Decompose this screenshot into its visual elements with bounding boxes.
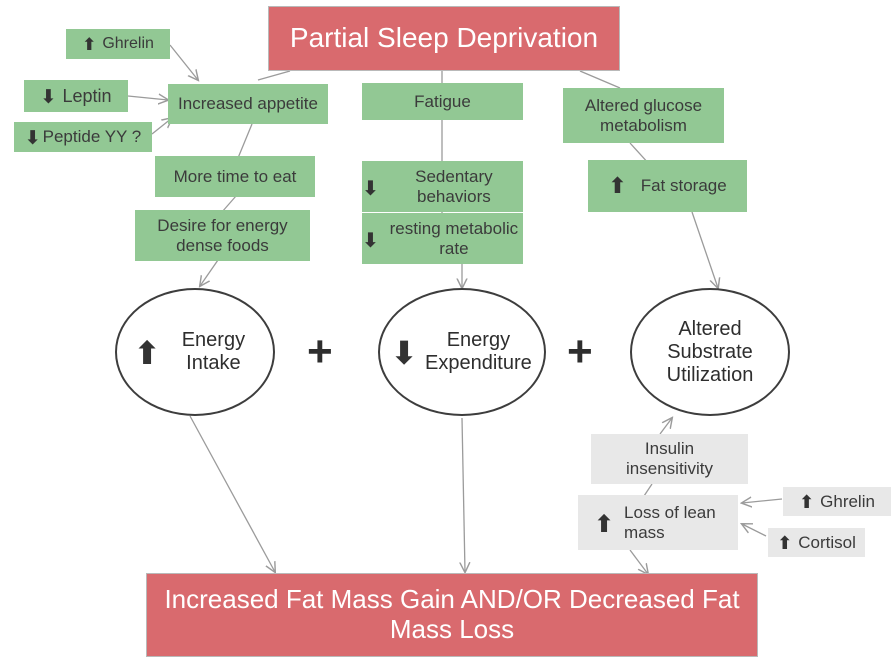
node-insulin-insensitivity[interactable]: Insulin insensitivity: [591, 434, 748, 484]
node-increased-appetite[interactable]: Increased appetite: [168, 84, 328, 124]
edge-ghrelin-to-leanmass: [742, 499, 782, 503]
arrow-up-icon: ⬆: [777, 535, 792, 553]
node-altered-substrate-utilization-label: Altered Substrate Utilization: [650, 318, 770, 387]
node-energy-intake-label: Energy Intake: [170, 329, 256, 375]
node-energy-expenditure[interactable]: ⬇ Energy Expenditure: [378, 288, 546, 416]
arrow-up-icon: ⬆: [594, 512, 614, 536]
edge-fatstorage-to-substrate: [692, 212, 718, 288]
header-partial-sleep-deprivation[interactable]: Partial Sleep Deprivation: [268, 6, 620, 71]
edge-insulin-to-substrate: [660, 418, 672, 434]
node-insulin-insensitivity-label: Insulin insensitivity: [615, 439, 725, 478]
node-peptide-yy[interactable]: ⬇ Peptide YY ?: [14, 122, 152, 152]
arrow-up-icon: ⬆: [134, 337, 161, 369]
node-fat-storage[interactable]: ⬆ Fat storage: [588, 160, 747, 212]
node-resting-metabolic-rate-label: resting metabolic rate: [385, 219, 523, 258]
node-energy-intake[interactable]: ⬆ Energy Intake: [115, 288, 275, 416]
node-loss-of-lean-mass[interactable]: ⬆ Loss of lean mass: [578, 495, 738, 550]
node-leptin-label: Leptin: [62, 86, 111, 107]
node-desire-energy-dense-foods-label: Desire for energy dense foods: [135, 216, 310, 255]
arrow-down-icon: ⬇: [25, 129, 41, 148]
node-energy-expenditure-label: Energy Expenditure: [423, 329, 533, 375]
arrow-up-icon: ⬆: [82, 37, 96, 54]
node-ghrelin-top-label: Ghrelin: [102, 35, 154, 53]
node-fatigue[interactable]: Fatigue: [362, 83, 523, 120]
node-resting-metabolic-rate[interactable]: ⬇ resting metabolic rate: [362, 213, 523, 264]
footer-outcome-banner[interactable]: Increased Fat Mass Gain AND/OR Decreased…: [146, 573, 758, 657]
node-peptide-yy-label: Peptide YY ?: [43, 127, 142, 147]
node-altered-glucose-metabolism[interactable]: Altered glucose metabolism: [563, 88, 724, 143]
node-cortisol-label: Cortisol: [798, 533, 856, 553]
node-fatigue-label: Fatigue: [414, 92, 471, 112]
footer-label: Increased Fat Mass Gain AND/OR Decreased…: [161, 585, 743, 645]
node-fat-storage-label: Fat storage: [641, 176, 727, 196]
node-more-time-to-eat[interactable]: More time to eat: [155, 156, 315, 197]
node-ghrelin-bottom-label: Ghrelin: [820, 492, 875, 512]
operator-plus-2: +: [567, 330, 593, 374]
node-sedentary-behaviors-label: Sedentary behaviors: [385, 167, 523, 206]
node-cortisol[interactable]: ⬆ Cortisol: [768, 528, 865, 557]
arrow-up-icon: ⬆: [608, 176, 626, 198]
node-altered-substrate-utilization[interactable]: Altered Substrate Utilization: [630, 288, 790, 416]
node-altered-glucose-metabolism-label: Altered glucose metabolism: [563, 96, 724, 135]
edge-cortisol-to-leanmass: [742, 524, 766, 536]
edge-intake-to-footer: [190, 416, 275, 572]
edge-header-to-appetite: [258, 71, 290, 80]
operator-plus-1: +: [307, 330, 333, 374]
edge-leanmass-to-footer: [630, 550, 648, 574]
edge-desire-to-intake: [200, 260, 218, 286]
edge-expenditure-to-footer: [462, 418, 465, 572]
arrow-down-icon: ⬇: [362, 178, 379, 198]
edge-appetite-to-moretime: [238, 124, 252, 158]
node-sedentary-behaviors[interactable]: ⬇ Sedentary behaviors: [362, 161, 523, 212]
edge-header-to-glucose: [580, 71, 620, 88]
node-increased-appetite-label: Increased appetite: [178, 94, 318, 114]
edge-leptin-to-appetite: [128, 96, 168, 100]
node-desire-energy-dense-foods[interactable]: Desire for energy dense foods: [135, 210, 310, 261]
node-leptin[interactable]: ⬇ Leptin: [24, 80, 128, 112]
header-label: Partial Sleep Deprivation: [290, 22, 598, 54]
arrow-up-icon: ⬆: [799, 494, 814, 512]
node-ghrelin-top[interactable]: ⬆ Ghrelin: [66, 29, 170, 59]
diagram-canvas: Partial Sleep Deprivation ⬆ Ghrelin ⬇ Le…: [0, 0, 893, 666]
arrow-down-icon: ⬇: [362, 230, 379, 250]
arrow-down-icon: ⬇: [41, 88, 57, 107]
node-loss-of-lean-mass-label: Loss of lean mass: [624, 503, 722, 542]
arrow-down-icon: ⬇: [391, 337, 418, 369]
node-ghrelin-bottom[interactable]: ⬆ Ghrelin: [783, 487, 891, 516]
node-more-time-to-eat-label: More time to eat: [174, 167, 297, 187]
edge-ghrelin-to-appetite: [170, 45, 198, 80]
